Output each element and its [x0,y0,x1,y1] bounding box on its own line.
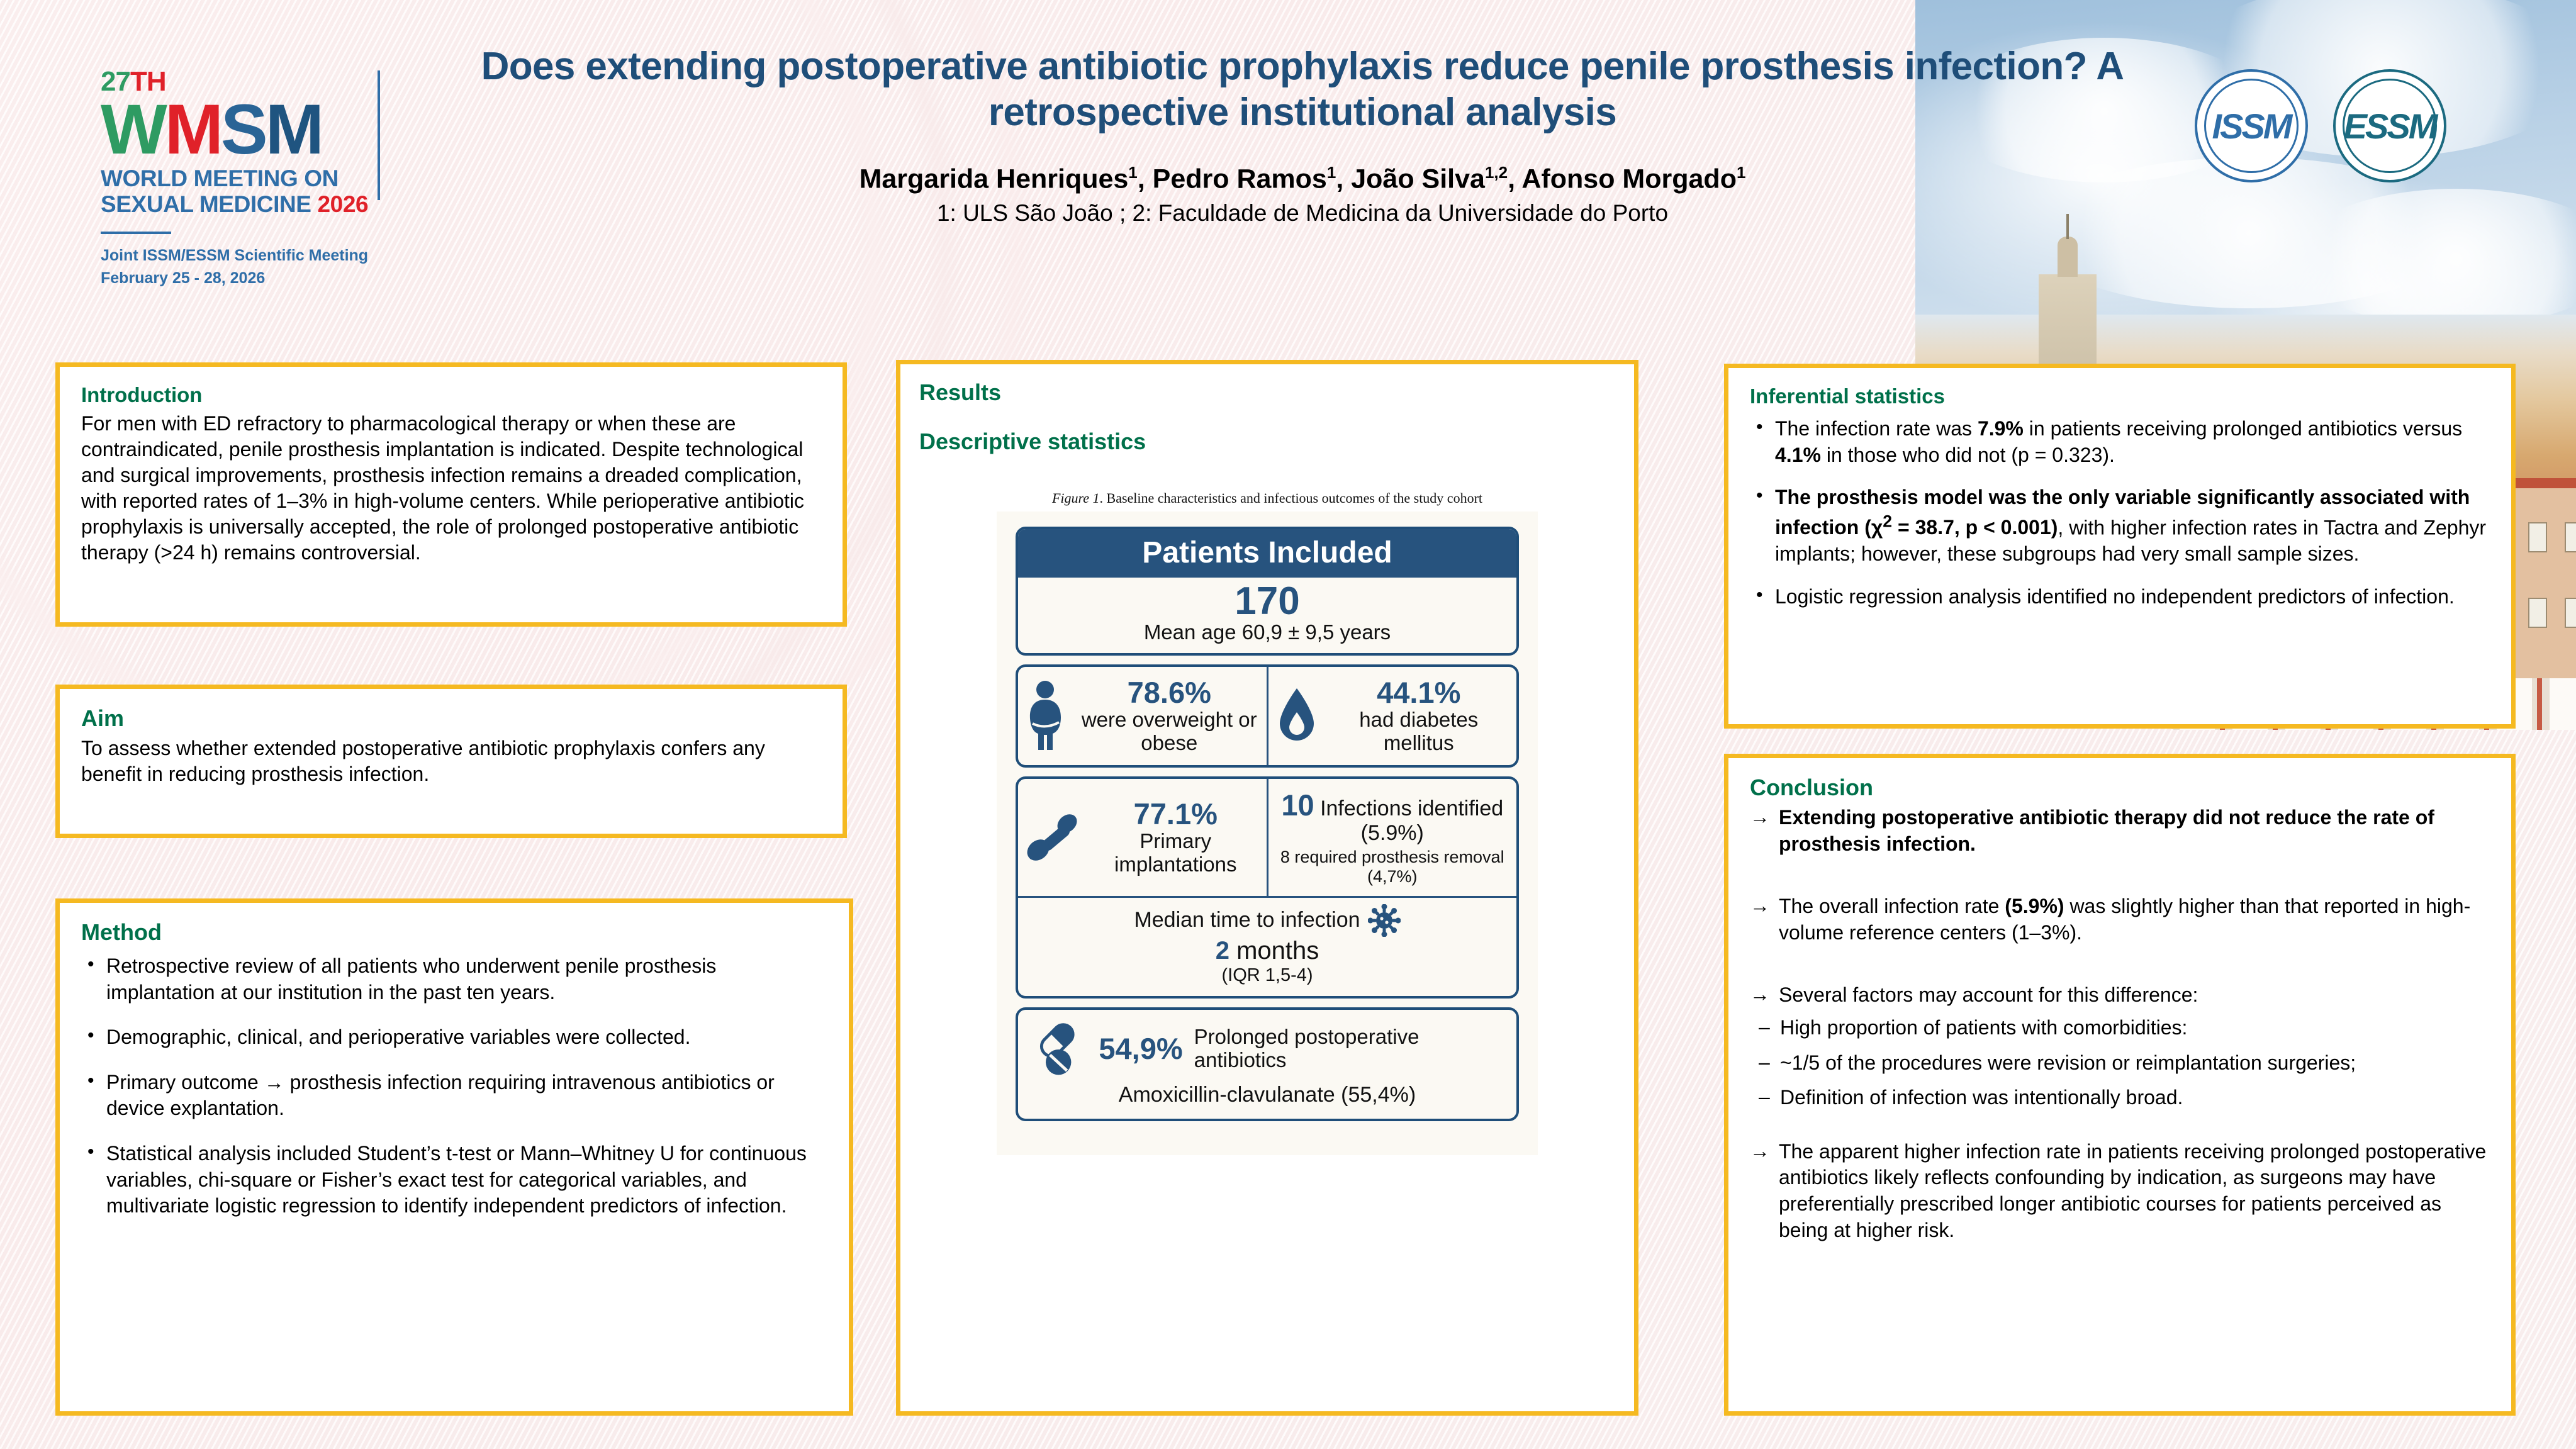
overweight-label: were overweight or obese [1078,708,1260,755]
comorbidities-card: 78.6% were overweight or obese 44.1% had… [1016,664,1519,768]
diabetes-label: had diabetes mellitus [1328,708,1511,755]
method-bullet: Retrospective review of all patients who… [81,953,827,1005]
essm-monogram: ESSM [2344,106,2436,147]
figure-caption: Figure 1. Baseline characteristics and i… [919,490,1615,506]
inferential-bullet: The prosthesis model was the only variab… [1750,484,2490,567]
descriptive-statistics-heading: Descriptive statistics [919,428,1615,455]
blood-drop-icon [1275,685,1319,747]
conclusion-point-4: The apparent higher infection rate in pa… [1750,1139,2490,1243]
logo-divider-rule [101,232,171,234]
logo-subtitle: WORLD MEETING ON SEXUAL MEDICINE 2026 [101,165,453,218]
figure-1-infographic: Patients Included 170 Mean age 60,9 ± 9,… [997,512,1538,1155]
patients-included-card: Patients Included 170 Mean age 60,9 ± 9,… [1016,527,1519,656]
aim-heading: Aim [81,705,821,732]
issm-logo: ISSM [2195,69,2308,182]
median-time-unit: months [1236,937,1319,965]
infections-count: 10 [1281,788,1314,822]
method-bullet: Statistical analysis included Student’s … [81,1141,827,1219]
conclusion-list: Extending postoperative antibiotic thera… [1750,805,2490,1243]
method-bullet-list: Retrospective review of all patients who… [81,953,827,1219]
diabetes-cell: 44.1% had diabetes mellitus [1268,667,1517,765]
inferential-bullet: The infection rate was 7.9% in patients … [1750,416,2490,468]
logo-subtitle-year: 2026 [317,191,368,217]
conclusion-heading: Conclusion [1750,775,2490,801]
overweight-value: 78.6% [1078,677,1260,708]
median-time-iqr: (IQR 1,5-4) [1026,965,1509,986]
inferential-statistics-box: Inferential statistics The infection rat… [1724,364,2516,729]
infections-label: Infections identified (5.9%) [1320,797,1503,845]
conclusion-point-2: The overall infection rate (5.9%) was sl… [1750,893,2490,946]
affiliations: 1: ULS São João ; 2: Faculdade de Medici… [434,200,2171,227]
obese-person-icon [1024,680,1070,752]
conclusion-sub-point: Definition of infection was intentionall… [1750,1085,2490,1111]
logo-subtitle-line2: SEXUAL MEDICINE [101,191,311,217]
introduction-heading: Introduction [81,383,821,407]
logo-acronym: WMSM [101,97,453,162]
essm-logo: ESSM [2333,69,2446,182]
header-vertical-divider [378,70,380,200]
inferential-bullet: Logistic regression analysis identified … [1750,584,2490,610]
patients-included-value: 170 [1018,581,1516,622]
primary-implantations-value: 77.1% [1091,798,1260,830]
pills-icon [1029,1019,1087,1079]
introduction-text: For men with ED refractory to pharmacolo… [81,411,821,566]
figure-caption-label: Figure 1 [1052,490,1100,506]
patients-included-header: Patients Included [1018,529,1516,578]
mean-age-detail: Mean age 60,9 ± 9,5 years [1018,620,1516,644]
prosthesis-removal-sublabel: 8 required prosthesis removal (4,7%) [1275,848,1511,885]
prolonged-antibiotics-label: Prolonged postoperative antibiotics [1194,1026,1505,1072]
inferential-bullet-list: The infection rate was 7.9% in patients … [1750,416,2490,610]
virus-icon [1368,904,1401,937]
poster-canvas: 27TH WMSM WORLD MEETING ON SEXUAL MEDICI… [0,0,2576,1449]
aim-text: To assess whether extended postoperative… [81,736,821,787]
surgery-infection-card: 77.1% Primary implantations 10 Infection… [1016,776,1519,999]
median-time-value: 2 [1216,937,1229,965]
logo-meeting-line: Joint ISSM/ESSM Scientific Meeting [101,244,453,267]
method-box: Method Retrospective review of all patie… [55,898,853,1416]
essm-seal-ring: ESSM [2343,79,2437,173]
median-time-label: Median time to infection [1134,908,1360,932]
primary-implantations-label: Primary implantations [1091,830,1260,876]
title-block: Does extending postoperative antibiotic … [434,44,2171,227]
antibiotics-card: 54,9% Prolonged postoperative antibiotic… [1016,1007,1519,1121]
wmsm-logo: 27TH WMSM WORLD MEETING ON SEXUAL MEDICI… [101,68,453,289]
method-bullet: Demographic, clinical, and perioperative… [81,1024,827,1051]
method-bullet: Primary outcome → prosthesis infection r… [81,1070,827,1122]
aim-box: Aim To assess whether extended postopera… [55,685,847,838]
infections-cell: 10 Infections identified (5.9%) 8 requir… [1268,779,1517,896]
results-box: Results Descriptive statistics Figure 1.… [896,360,1638,1416]
results-heading: Results [919,379,1615,406]
issm-seal-ring: ISSM [2204,79,2299,173]
antibiotic-agent-footnote: Amoxicillin-clavulanate (55,4%) [1029,1083,1505,1107]
penile-implant-icon [1024,808,1082,866]
conclusion-lead: Extending postoperative antibiotic thera… [1750,805,2490,857]
logo-subtitle-line1: WORLD MEETING ON [101,165,453,191]
logo-dates-line: February 25 - 28, 2026 [101,267,453,289]
figure-caption-text: . Baseline characteristics and infectiou… [1100,490,1482,506]
inferential-heading: Inferential statistics [1750,384,2490,408]
conclusion-box: Conclusion Extending postoperative antib… [1724,754,2516,1416]
median-time-row: Median time to infection [1018,896,1516,996]
primary-implantations-cell: 77.1% Primary implantations [1018,779,1268,896]
diabetes-value: 44.1% [1328,677,1511,708]
author-list: Margarida Henriques1, Pedro Ramos1, João… [434,163,2171,194]
conclusion-sub-list: High proportion of patients with comorbi… [1750,1015,2490,1111]
conclusion-point-3: Several factors may account for this dif… [1750,982,2490,1009]
overweight-cell: 78.6% were overweight or obese [1018,667,1268,765]
conclusion-sub-point: High proportion of patients with comorbi… [1750,1015,2490,1041]
conclusion-sub-point: ~1/5 of the procedures were revision or … [1750,1050,2490,1077]
issm-monogram: ISSM [2212,106,2291,147]
method-heading: Method [81,919,827,946]
prolonged-antibiotics-value: 54,9% [1099,1031,1182,1066]
introduction-box: Introduction For men with ED refractory … [55,362,847,627]
page-title: Does extending postoperative antibiotic … [434,44,2171,135]
